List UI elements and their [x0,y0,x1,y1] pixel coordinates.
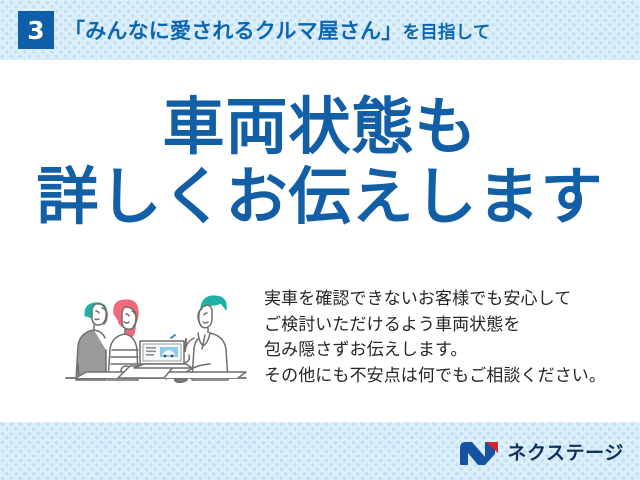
laptop [134,341,192,368]
consultation-illustration-svg [58,278,254,386]
body-copy-line-3: 包み隠さずお伝えします。 [264,337,616,363]
advertisement-canvas: 3 「みんなに愛されるクルマ屋さん」 を目指して 車両状態も 詳しくお伝えします [0,0,640,480]
header-title-quoted: 「みんなに愛されるクルマ屋さん」 [64,15,403,45]
page-headline: 車両状態も 詳しくお伝えします [0,96,640,231]
header-title: 「みんなに愛されるクルマ屋さん」 を目指して [64,15,491,45]
headline-line-2: 詳しくお伝えします [0,166,640,230]
nextage-n-mark-icon [458,440,500,467]
brand-logo: ネクステージ [458,438,624,468]
headline-line-1: 車両状態も [0,96,640,160]
customer-man [76,303,107,380]
step-number-badge: 3 [18,11,54,49]
sales-staff [166,296,228,382]
body-copy: 実車を確認できないお客様でも安心して ご検討いただけるよう車両状態を 包み隠さず… [264,286,616,388]
body-copy-line-4: その他にも不安点は何でもご相談ください。 [264,363,616,389]
header-content: 3 「みんなに愛されるクルマ屋さん」 を目指して [0,0,640,60]
header-title-suffix: を目指して [403,19,491,44]
consultation-illustration [58,278,254,386]
body-copy-line-2: ご検討いただけるよう車両状態を [264,312,616,338]
brand-name-label: ネクステージ [507,444,624,463]
body-copy-line-1: 実車を確認できないお客様でも安心して [264,286,616,312]
